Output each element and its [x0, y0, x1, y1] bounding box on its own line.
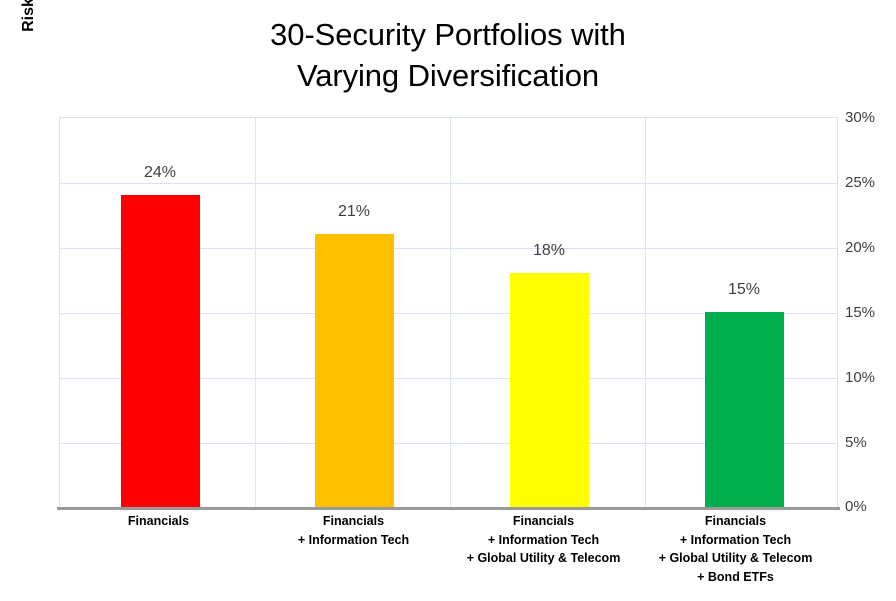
y-tick-10: 10% — [845, 370, 890, 386]
x-category-4-line-1: Financials — [638, 512, 833, 531]
chart-title-line-1: 30-Security Portfolios with — [0, 14, 896, 55]
x-category-label-1: Financials — [61, 512, 256, 531]
category-divider-1 — [255, 118, 256, 507]
x-category-4-line-4: + Bond ETFs — [638, 568, 833, 587]
x-category-label-2: Financials + Information Tech — [256, 512, 451, 549]
x-category-1-line-1: Financials — [61, 512, 256, 531]
y-tick-25: 25% — [845, 175, 890, 191]
data-label-bar-4: 15% — [704, 281, 784, 299]
category-divider-2 — [450, 118, 451, 507]
y-axis-title: Risk Level (Volatility) — [14, 0, 44, 147]
data-label-bar-3: 18% — [509, 242, 589, 260]
data-label-bar-2: 21% — [314, 203, 394, 221]
bar-financials[interactable] — [121, 195, 200, 507]
x-category-3-line-3: + Global Utility & Telecom — [446, 549, 641, 568]
x-category-label-3: Financials + Information Tech + Global U… — [446, 512, 641, 568]
bar-financials-infotech-utility-bonds[interactable] — [705, 312, 784, 507]
x-axis-line — [57, 507, 840, 510]
bar-financials-infotech-utility[interactable] — [510, 273, 589, 507]
y-tick-20: 20% — [845, 240, 890, 256]
chart-title-line-2: Varying Diversification — [0, 55, 896, 96]
x-category-3-line-2: + Information Tech — [446, 531, 641, 550]
x-category-4-line-2: + Information Tech — [638, 531, 833, 550]
y-tick-5: 5% — [845, 435, 890, 451]
x-category-2-line-2: + Information Tech — [256, 531, 451, 550]
bar-financials-infotech[interactable] — [315, 234, 394, 507]
x-category-label-4: Financials + Information Tech + Global U… — [638, 512, 833, 586]
y-tick-15: 15% — [845, 305, 890, 321]
gridline-25 — [60, 183, 837, 184]
data-label-bar-1: 24% — [120, 164, 200, 182]
x-category-3-line-1: Financials — [446, 512, 641, 531]
x-category-4-line-3: + Global Utility & Telecom — [638, 549, 833, 568]
category-divider-3 — [645, 118, 646, 507]
x-category-2-line-1: Financials — [256, 512, 451, 531]
chart-title: 30-Security Portfolios with Varying Dive… — [0, 14, 896, 96]
y-tick-30: 30% — [845, 110, 890, 126]
y-tick-0: 0% — [845, 499, 890, 515]
